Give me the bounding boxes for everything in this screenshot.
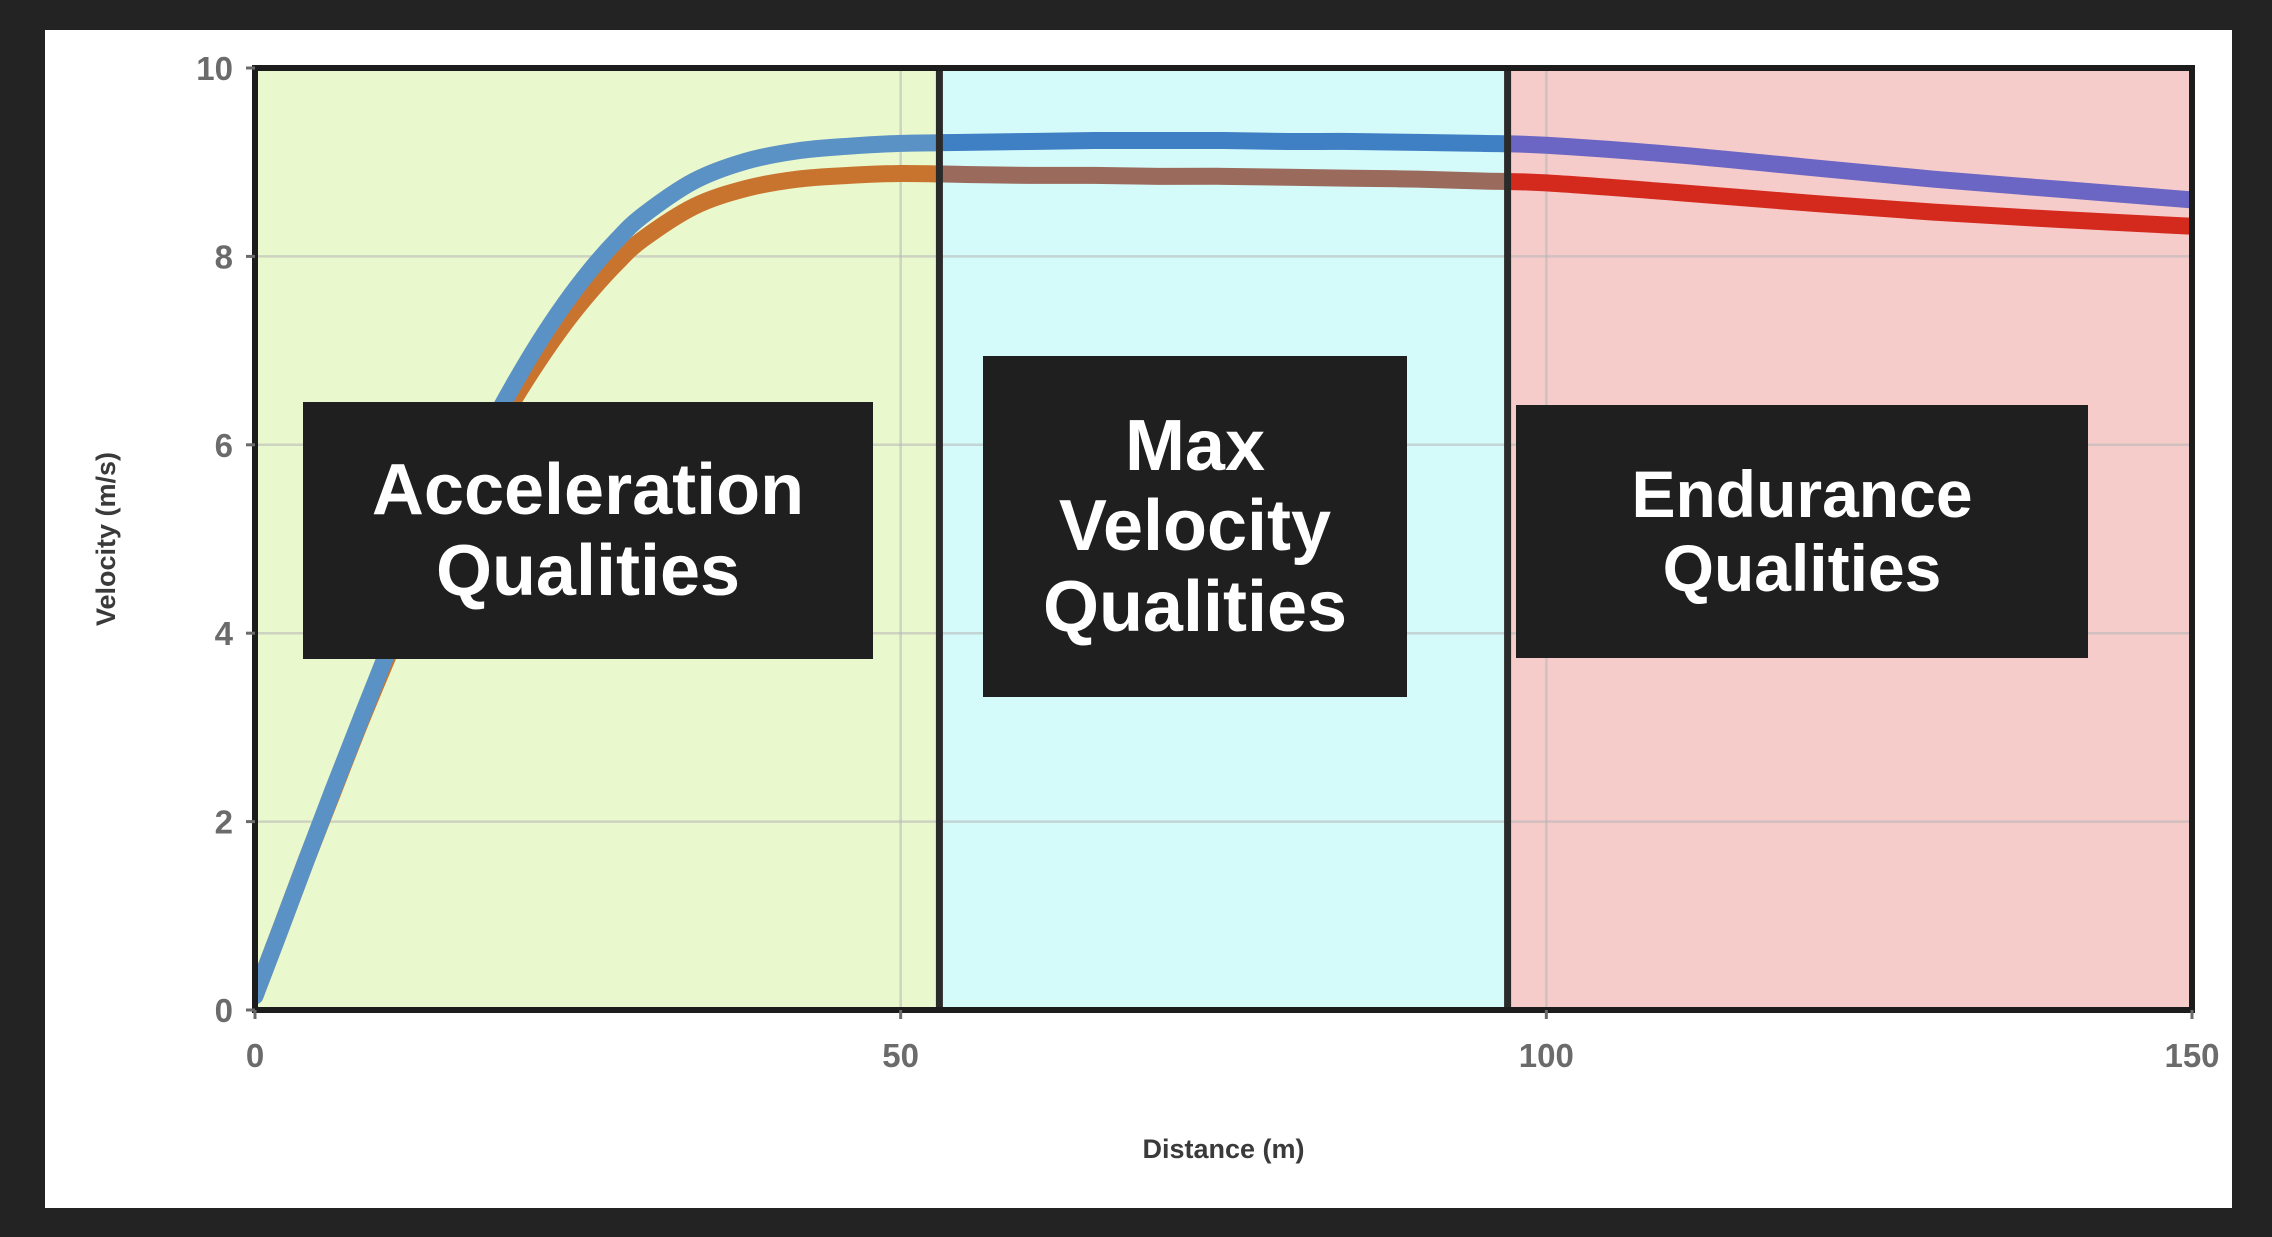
zone-label-acceleration-text: Acceleration Qualities [372, 450, 804, 611]
y-tick-label: 2 [215, 804, 233, 841]
y-tick-label: 6 [215, 427, 233, 464]
x-axis-title: Distance (m) [1142, 1134, 1304, 1164]
y-tick-label: 4 [215, 615, 234, 652]
x-tick-label: 150 [2164, 1037, 2219, 1074]
x-tick-label: 0 [246, 1037, 264, 1074]
zone-label-max-velocity: Max Velocity Qualities [983, 356, 1407, 697]
velocity-distance-chart: 0246810050100150 Distance (m) Velocity (… [45, 30, 2232, 1208]
zone-label-endurance-text: Endurance Qualities [1631, 458, 1972, 606]
x-tick-label: 100 [1519, 1037, 1574, 1074]
zone-label-max-velocity-text: Max Velocity Qualities [1043, 406, 1347, 648]
zone-label-acceleration: Acceleration Qualities [303, 402, 873, 659]
y-tick-label: 8 [215, 238, 233, 275]
figure-outer-frame: 0246810050100150 Distance (m) Velocity (… [0, 0, 2272, 1237]
y-tick-label: 0 [215, 992, 233, 1029]
y-axis-title: Velocity (m/s) [91, 452, 121, 626]
chart-card: 0246810050100150 Distance (m) Velocity (… [45, 30, 2232, 1208]
x-tick-label: 50 [882, 1037, 919, 1074]
zone-label-endurance: Endurance Qualities [1516, 405, 2088, 658]
y-tick-label: 10 [196, 50, 233, 87]
